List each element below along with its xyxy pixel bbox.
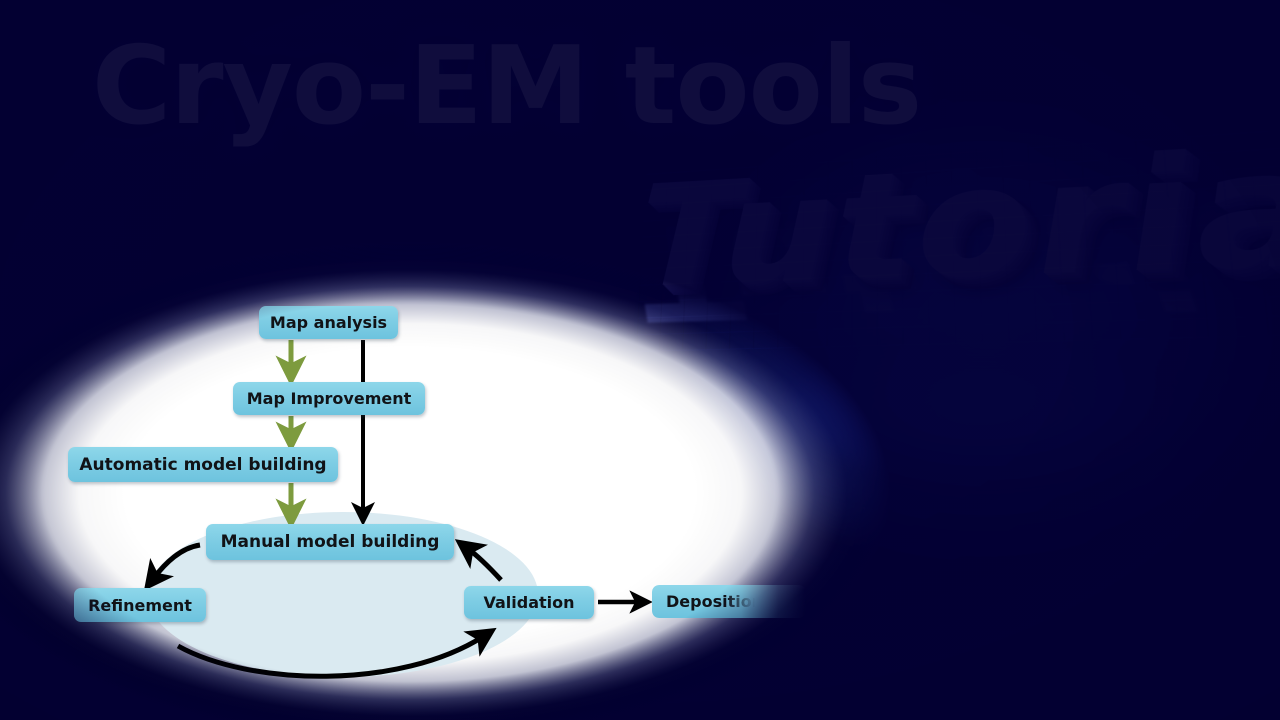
node-refinement[interactable]: Refinement: [74, 588, 206, 622]
node-deposition[interactable]: Deposition: [652, 585, 806, 618]
arrow-black-refinement-to-validation: [178, 636, 484, 676]
node-label: Deposition: [666, 592, 763, 611]
node-map-analysis[interactable]: Map analysis: [259, 306, 398, 339]
node-label: Manual model building: [221, 532, 440, 552]
node-label: Automatic model building: [79, 455, 326, 475]
node-automatic-model-building[interactable]: Automatic model building: [68, 447, 338, 482]
arrow-black-manualbuild-to-refinement: [153, 545, 200, 579]
node-label: Map analysis: [270, 313, 387, 332]
node-map-improvement[interactable]: Map Improvement: [233, 382, 425, 415]
node-label: Map Improvement: [247, 389, 412, 408]
node-validation[interactable]: Validation: [464, 586, 594, 619]
node-manual-model-building[interactable]: Manual model building: [206, 524, 454, 560]
slide-canvas: Tutorial Tutorial Cryo-EM tools: [0, 0, 1280, 720]
arrow-black-validation-to-manualbuild: [467, 548, 501, 580]
node-label: Refinement: [88, 596, 192, 615]
cryoem-workflow-diagram: Map analysis Map Improvement Automatic m…: [0, 0, 1280, 720]
node-label: Validation: [483, 593, 574, 612]
